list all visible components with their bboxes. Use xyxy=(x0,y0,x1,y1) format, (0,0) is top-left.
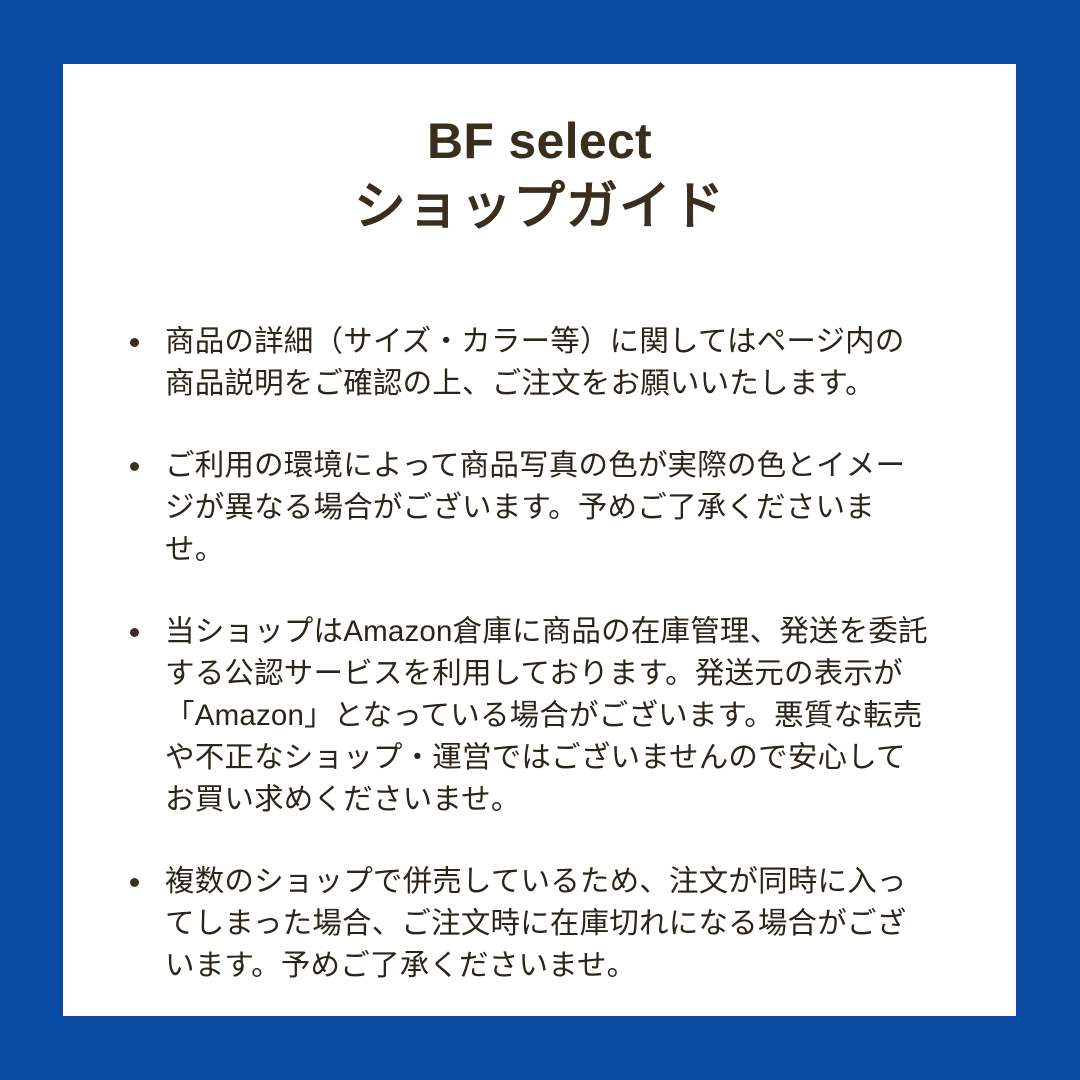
bullet-dot-icon xyxy=(130,338,139,347)
bullet-dot-icon xyxy=(130,628,139,637)
page-title: BF select ショップガイド xyxy=(63,111,1016,240)
list-item: ご利用の環境によって商品写真の色が実際の色とイメージが異なる場合がございます。予… xyxy=(121,445,931,571)
guide-bullet-list: 商品の詳細（サイズ・カラー等）に関してはページ内の商品説明をご確認の上、ご注文を… xyxy=(121,321,931,987)
list-item-text: 商品の詳細（サイズ・カラー等）に関してはページ内の商品説明をご確認の上、ご注文を… xyxy=(165,321,931,405)
bullet-dot-icon xyxy=(130,878,139,887)
poster-canvas: BF select ショップガイド 商品の詳細（サイズ・カラー等）に関してはペー… xyxy=(0,0,1080,1080)
list-item-text: ご利用の環境によって商品写真の色が実際の色とイメージが異なる場合がございます。予… xyxy=(165,445,931,571)
list-item: 商品の詳細（サイズ・カラー等）に関してはページ内の商品説明をご確認の上、ご注文を… xyxy=(121,321,931,405)
list-item-text: 複数のショップで併売しているため、注文が同時に入ってしまった場合、ご注文時に在庫… xyxy=(165,861,931,987)
guide-title: ショップガイド xyxy=(63,174,1016,240)
white-panel: BF select ショップガイド 商品の詳細（サイズ・カラー等）に関してはペー… xyxy=(63,64,1016,1016)
list-item: 複数のショップで併売しているため、注文が同時に入ってしまった場合、ご注文時に在庫… xyxy=(121,861,931,987)
list-item-text: 当ショップはAmazon倉庫に商品の在庫管理、発送を委託する公認サービスを利用し… xyxy=(165,611,931,821)
brand-title: BF select xyxy=(63,111,1016,171)
bullet-dot-icon xyxy=(130,462,139,471)
list-item: 当ショップはAmazon倉庫に商品の在庫管理、発送を委託する公認サービスを利用し… xyxy=(121,611,931,821)
